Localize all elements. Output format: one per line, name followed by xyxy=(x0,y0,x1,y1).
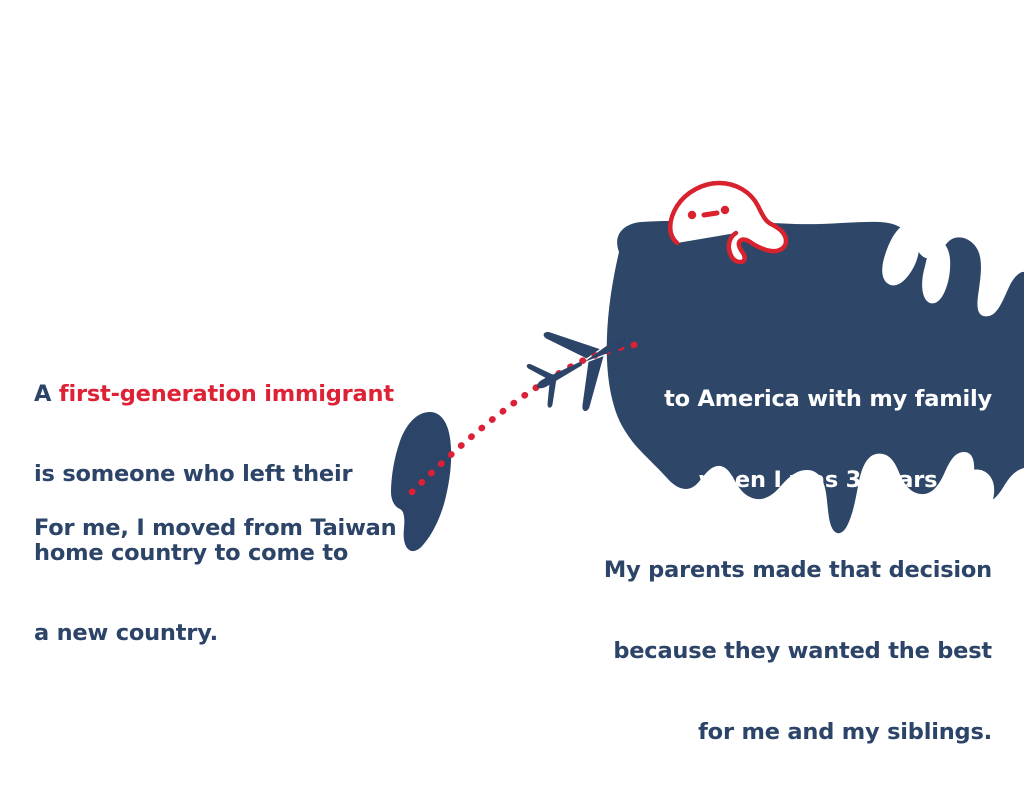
definition-highlight-term: first-generation immigrant xyxy=(59,381,394,407)
taiwan-caption: For me, I moved from Taiwan xyxy=(34,515,396,542)
america-caption-line-2: when I was 3 years old. xyxy=(664,467,992,494)
definition-line-3: home country to come to xyxy=(34,540,394,567)
definition-line-1-prefix: A xyxy=(34,381,59,407)
america-caption-line-1: to America with my family xyxy=(664,386,992,413)
parents-caption-line-2: because they wanted the best xyxy=(604,638,992,665)
mascot-left-eye-icon xyxy=(688,211,696,219)
parents-caption-line-1: My parents made that decision xyxy=(604,557,992,584)
mascot-mouth-icon xyxy=(704,213,717,215)
definition-line-4: a new country. xyxy=(34,620,394,647)
parents-caption: My parents made that decision because th… xyxy=(604,503,992,800)
parents-caption-line-3: for me and my siblings. xyxy=(604,719,992,746)
definition-line-1: A first-generation immigrant xyxy=(34,381,394,408)
definition-line-2: is someone who left their xyxy=(34,461,394,488)
mascot-right-eye-icon xyxy=(721,206,729,214)
definition-text-block: A first-generation immigrant is someone … xyxy=(34,328,394,699)
infographic-canvas: A first-generation immigrant is someone … xyxy=(0,0,1024,670)
